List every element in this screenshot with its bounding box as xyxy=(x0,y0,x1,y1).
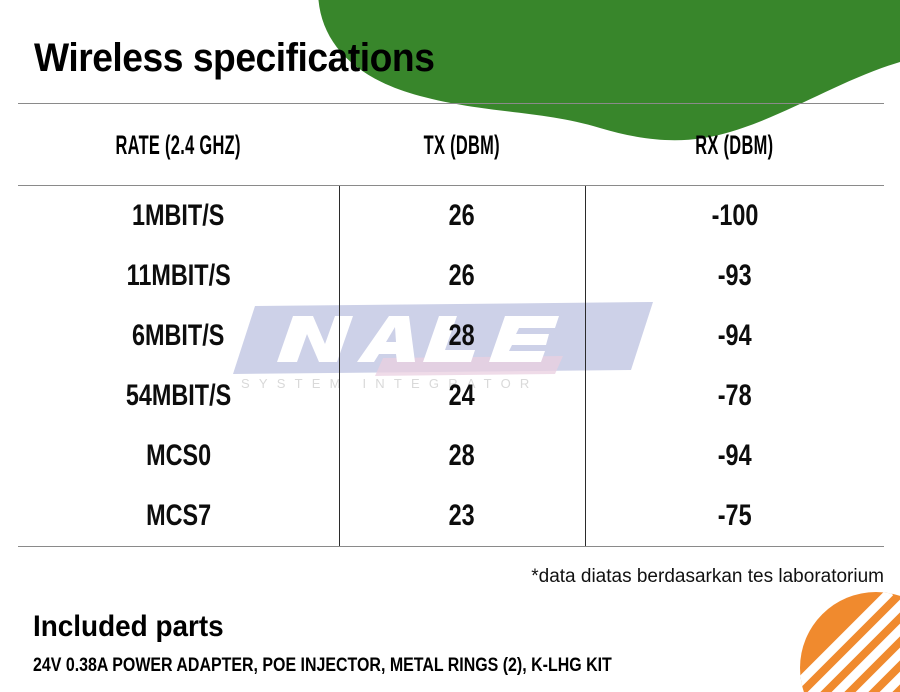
table-header: RATE (2.4 GHZ) TX (DBM) RX (DBM) xyxy=(18,104,884,186)
cell-tx-value: 23 xyxy=(449,499,475,533)
table-footnote: *data diatas berdasarkan tes laboratoriu… xyxy=(531,566,884,588)
wireless-spec-table-container: RATE (2.4 GHZ) TX (DBM) RX (DBM) 1MBIT/S… xyxy=(18,103,884,547)
cell-tx: 26 xyxy=(339,246,585,306)
cell-rate: MCS7 xyxy=(18,486,339,547)
cell-tx-value: 28 xyxy=(449,439,475,473)
cell-rate-value: MCS7 xyxy=(146,499,211,533)
cell-rate: 54MBIT/S xyxy=(18,366,339,426)
wireless-spec-table: RATE (2.4 GHZ) TX (DBM) RX (DBM) 1MBIT/S… xyxy=(18,103,884,547)
table-header-row: RATE (2.4 GHZ) TX (DBM) RX (DBM) xyxy=(18,104,884,186)
cell-tx: 28 xyxy=(339,306,585,366)
cell-rx: -75 xyxy=(585,486,884,547)
orange-striped-circle-icon xyxy=(780,592,900,692)
table-body: 1MBIT/S 26 -100 11MBIT/S 26 -93 6MBIT/S … xyxy=(18,186,884,547)
cell-tx: 24 xyxy=(339,366,585,426)
cell-tx-value: 26 xyxy=(449,199,475,233)
cell-tx: 28 xyxy=(339,426,585,486)
table-row: MCS7 23 -75 xyxy=(18,486,884,547)
cell-tx: 23 xyxy=(339,486,585,547)
wave-back-shape xyxy=(470,0,900,64)
cell-rx-value: -94 xyxy=(718,319,752,353)
included-parts-heading: Included parts xyxy=(33,611,224,643)
column-header-tx-label: TX (DBM) xyxy=(424,130,500,161)
column-header-rx: RX (DBM) xyxy=(615,104,854,186)
table-row: MCS0 28 -94 xyxy=(18,426,884,486)
page-title: Wireless specifications xyxy=(34,36,434,80)
cell-rate: 6MBIT/S xyxy=(18,306,339,366)
cell-rate: 11MBIT/S xyxy=(18,246,339,306)
cell-rate-value: MCS0 xyxy=(146,439,211,473)
cell-rx-value: -78 xyxy=(718,379,752,413)
column-header-rx-label: RX (DBM) xyxy=(695,130,773,161)
table-row: 11MBIT/S 26 -93 xyxy=(18,246,884,306)
cell-rate-value: 11MBIT/S xyxy=(126,259,230,293)
cell-tx: 26 xyxy=(339,186,585,247)
cell-rate-value: 54MBIT/S xyxy=(126,379,231,413)
cell-tx-value: 28 xyxy=(449,319,475,353)
cell-rx: -93 xyxy=(585,246,884,306)
cell-tx-value: 24 xyxy=(449,379,475,413)
spec-sheet-page: Wireless specifications SYSTEM INTEGRATO… xyxy=(0,0,900,692)
table-row: 1MBIT/S 26 -100 xyxy=(18,186,884,247)
table-row: 6MBIT/S 28 -94 xyxy=(18,306,884,366)
cell-rx: -94 xyxy=(585,306,884,366)
included-parts-list: 24V 0.38A POWER ADAPTER, POE INJECTOR, M… xyxy=(33,655,612,677)
cell-rx: -100 xyxy=(585,186,884,247)
badge-stripes xyxy=(780,592,900,692)
column-header-tx: TX (DBM) xyxy=(364,104,561,186)
cell-rx: -94 xyxy=(585,426,884,486)
cell-rate: MCS0 xyxy=(18,426,339,486)
cell-rx: -78 xyxy=(585,366,884,426)
cell-rate: 1MBIT/S xyxy=(18,186,339,247)
table-row: 54MBIT/S 24 -78 xyxy=(18,366,884,426)
cell-tx-value: 26 xyxy=(449,259,475,293)
cell-rx-value: -75 xyxy=(718,499,752,533)
cell-rate-value: 1MBIT/S xyxy=(132,199,224,233)
cell-rx-value: -93 xyxy=(718,259,752,293)
cell-rate-value: 6MBIT/S xyxy=(132,319,224,353)
column-header-rate: RATE (2.4 GHZ) xyxy=(50,104,307,186)
cell-rx-value: -94 xyxy=(718,439,752,473)
column-header-rate-label: RATE (2.4 GHZ) xyxy=(116,130,241,161)
cell-rx-value: -100 xyxy=(711,199,758,233)
